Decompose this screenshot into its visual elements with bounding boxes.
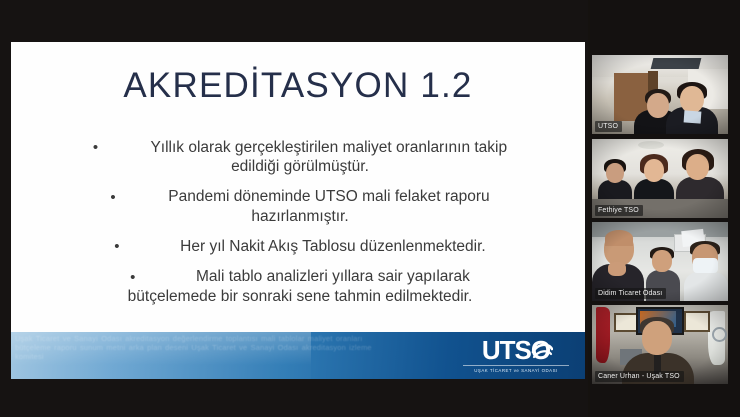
presentation-slide: AKREDİTASYON 1.2 • Yıllık olarak gerçekl… bbox=[11, 42, 585, 379]
slide-footer-band: Uşak Ticaret ve Sanayi Odası akreditasyo… bbox=[11, 332, 585, 379]
participant-video-strip: UTSO Fethiye TSO Didim Ticaret Od bbox=[590, 0, 740, 417]
bullet-text-line: Mali tablo analizleri yıllara sair yapıl… bbox=[196, 268, 470, 285]
video-tile-participant-1[interactable]: UTSO bbox=[592, 55, 728, 134]
footer-watermark-text: Uşak Ticaret ve Sanayi Odası akreditasyo… bbox=[15, 334, 385, 374]
bullet-text-line: Pandemi döneminde UTSO mali felaket rapo… bbox=[168, 188, 489, 205]
utso-logo-subtitle: UŞAK TİCARET ve SANAYİ ODASI bbox=[463, 365, 569, 374]
participant-name-label: Didim Ticaret Odası bbox=[595, 288, 666, 299]
bullet-text-line: bütçelemede bir sonraki sene tahmin edil… bbox=[37, 287, 563, 306]
shared-screen-stage: AKREDİTASYON 1.2 • Yıllık olarak gerçekl… bbox=[0, 0, 588, 417]
bullet-marker-icon: • bbox=[110, 188, 115, 207]
slide-bullet-list: • Yıllık olarak gerçekleştirilen maliyet… bbox=[37, 138, 563, 317]
video-tile-participant-4[interactable]: Caner Urhan - Uşak TSO bbox=[592, 305, 728, 384]
video-conference-window: AKREDİTASYON 1.2 • Yıllık olarak gerçekl… bbox=[0, 0, 740, 417]
bullet-marker-icon: • bbox=[114, 237, 119, 256]
bullet-text-line: Yıllık olarak gerçekleştirilen maliyet o… bbox=[150, 139, 507, 156]
bullet-text-line: edildiği görülmüştür. bbox=[37, 157, 563, 176]
participant-name-label: Caner Urhan - Uşak TSO bbox=[595, 371, 684, 382]
slide-content-area: AKREDİTASYON 1.2 • Yıllık olarak gerçekl… bbox=[11, 42, 585, 332]
video-tile-participant-3[interactable]: Didim Ticaret Odası bbox=[592, 222, 728, 301]
bullet-item: • Pandemi döneminde UTSO mali felaket ra… bbox=[37, 187, 563, 225]
bullet-marker-icon: • bbox=[130, 268, 135, 287]
swoosh-icon bbox=[531, 340, 553, 361]
bullet-marker-icon: • bbox=[93, 138, 98, 157]
bullet-item: • Mali tablo analizleri yıllara sair yap… bbox=[37, 267, 563, 305]
video-strip-filler bbox=[590, 384, 740, 417]
slide-title: AKREDİTASYON 1.2 bbox=[11, 66, 585, 106]
bullet-item: • Yıllık olarak gerçekleştirilen maliyet… bbox=[37, 138, 563, 176]
utso-logo: UTSO UŞAK TİCARET ve SANAYİ ODASI bbox=[461, 337, 571, 375]
bullet-text-line: hazırlanmıştır. bbox=[37, 207, 563, 226]
bullet-text-line: Her yıl Nakit Akış Tablosu düzenlenmekte… bbox=[180, 238, 486, 255]
video-tile-participant-2[interactable]: Fethiye TSO bbox=[592, 139, 728, 218]
participant-name-label: UTSO bbox=[595, 121, 622, 132]
bullet-item: • Her yıl Nakit Akış Tablosu düzenlenmek… bbox=[37, 237, 563, 256]
participant-name-label: Fethiye TSO bbox=[595, 205, 643, 216]
utso-logo-wordmark: UTSO bbox=[482, 337, 550, 364]
